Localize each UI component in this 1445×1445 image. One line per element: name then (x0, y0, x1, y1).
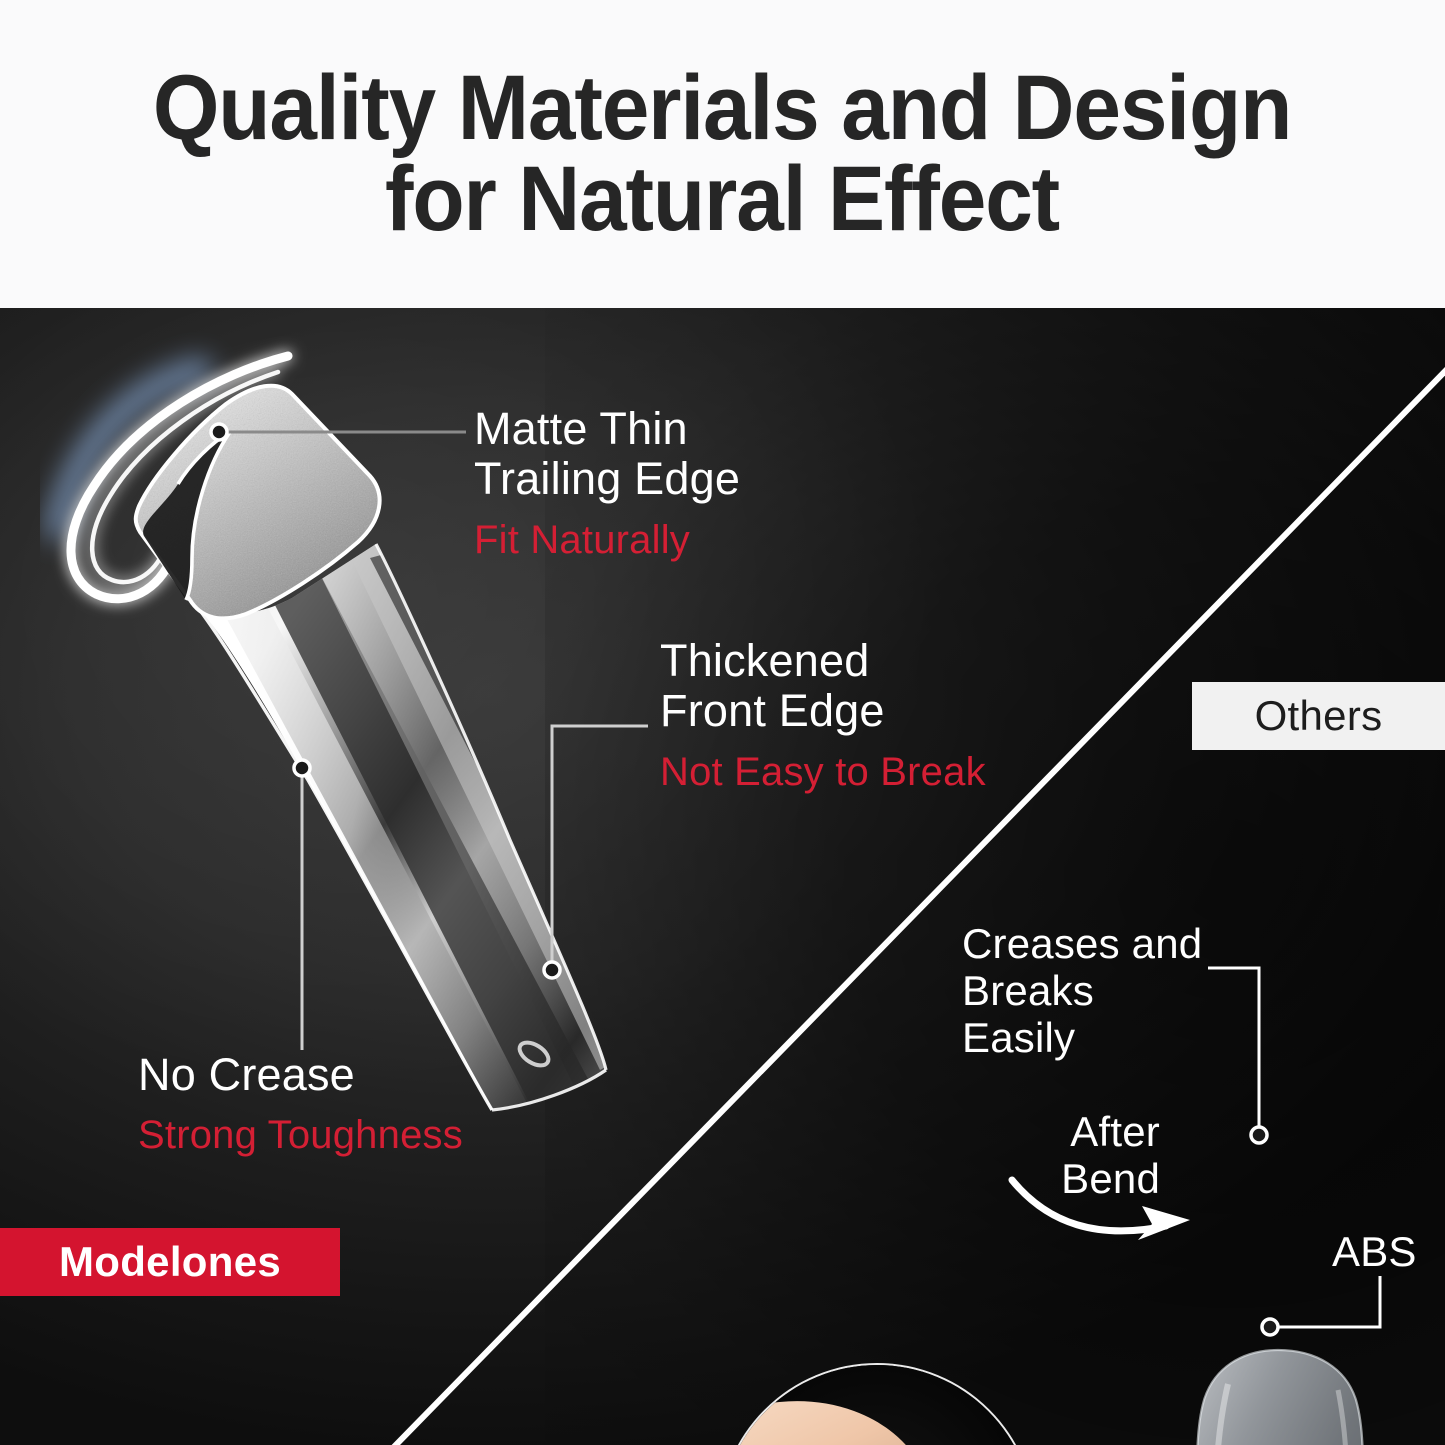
callout-no-crease: No Crease Strong Toughness (138, 1050, 463, 1158)
callout-matte-thin-trailing-edge: Matte Thin Trailing Edge Fit Naturally (474, 404, 740, 563)
product-infographic: Quality Materials and Design for Natural… (0, 0, 1445, 1445)
header-banner: Quality Materials and Design for Natural… (0, 0, 1445, 308)
brand-badge-label: Modelones (59, 1238, 281, 1286)
page-title: Quality Materials and Design for Natural… (116, 63, 1329, 245)
callout-matte-thin-trailing-edge-subtitle: Fit Naturally (474, 517, 740, 563)
compare-badge-label: Others (1255, 692, 1383, 740)
callout-thickened-front-edge-subtitle: Not Easy to Break (660, 749, 986, 795)
callout-thickened-front-edge-title: Thickened Front Edge (660, 636, 986, 737)
compare-badge-others: Others (1192, 682, 1445, 750)
callout-abs-material: ABS (1332, 1228, 1417, 1275)
callout-no-crease-title: No Crease (138, 1050, 463, 1100)
abs-nail-tip-photo (1150, 1338, 1410, 1445)
callout-matte-thin-trailing-edge-title: Matte Thin Trailing Edge (474, 404, 740, 505)
callout-after-bend: After Bend (940, 1108, 1160, 1202)
callout-abs-material-title: ABS (1332, 1228, 1417, 1275)
fingers-bending-nail-tip-photo (718, 1363, 1036, 1445)
callout-after-bend-title: After Bend (940, 1108, 1160, 1202)
callout-thickened-front-edge: Thickened Front Edge Not Easy to Break (660, 636, 986, 795)
callout-creases-and-breaks-title: Creases and Breaks Easily (962, 920, 1212, 1061)
callout-creases-and-breaks: Creases and Breaks Easily (962, 920, 1212, 1061)
callout-no-crease-subtitle: Strong Toughness (138, 1112, 463, 1158)
page-title-line-1: Quality Materials and Design (153, 63, 1291, 154)
page-title-line-2: for Natural Effect (153, 154, 1291, 245)
brand-badge-modelones: Modelones (0, 1228, 340, 1296)
